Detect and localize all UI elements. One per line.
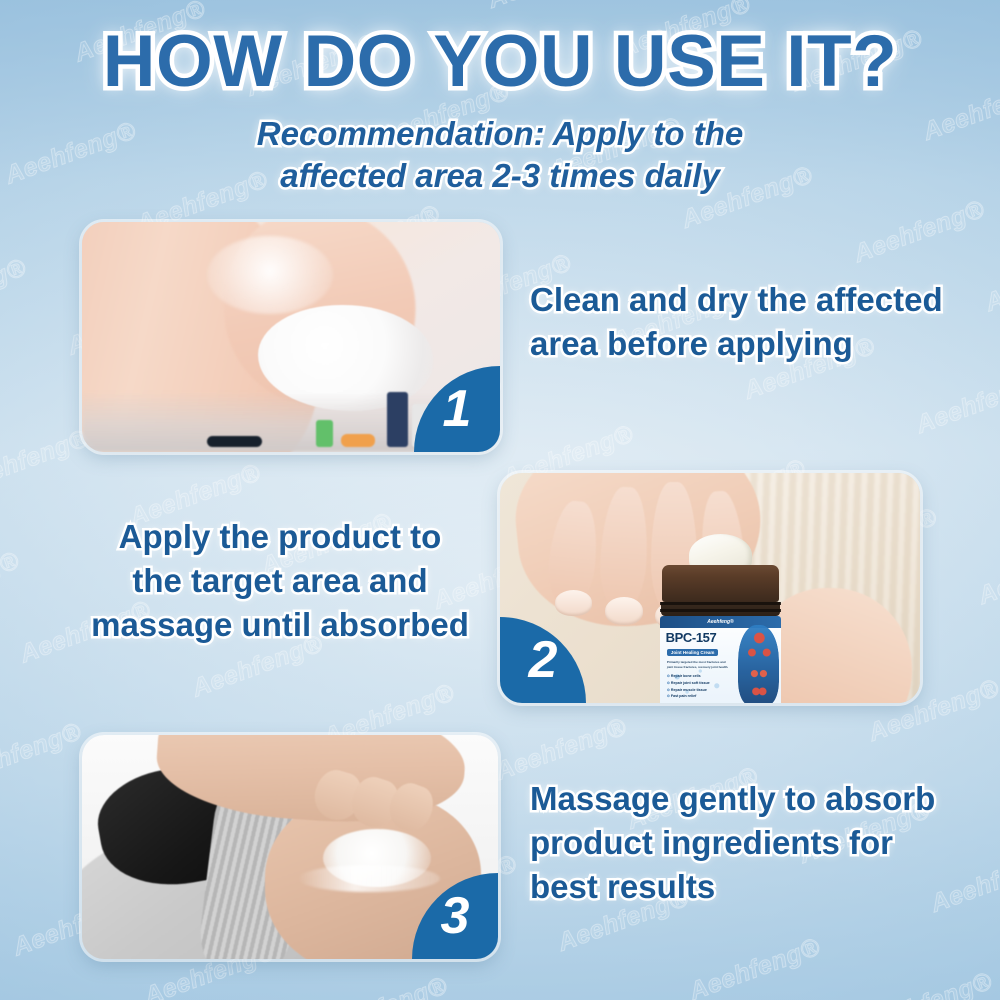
dark-object [207,436,261,448]
step-3-caption: Massage gently to absorb product ingredi… [530,777,980,909]
bottle-green [316,420,333,448]
recommendation-subtitle: Recommendation: Apply to the affected ar… [0,113,1000,197]
step-1-caption-line-1: Clean and dry the affected [530,278,1000,322]
step-2-caption-line-3: massage until absorbed [80,603,480,647]
benefit-item: Repair joint soft tissue [667,680,738,687]
step-3: 3 Massage gently to absorb product ingre… [82,735,498,959]
header-block: HOW DO YOU USE IT? Recommendation: Apply… [0,0,1000,197]
step-1-photo: 1 [82,222,500,452]
step-2-caption: Apply the product to the target area and… [80,515,480,647]
cream-smear [298,865,439,892]
human-body-pain-points-graphic [738,625,779,703]
subtitle-line-2: affected area 2-3 times daily [0,155,1000,197]
label-product-name: BPC-157 [666,630,717,645]
label-benefit-list: Repair bone cells Repair joint soft tiss… [667,673,738,700]
fingernail [605,597,643,625]
subtitle-line-1: Recommendation: Apply to the [0,113,1000,155]
infographic-poster: Aeehfeng®Aeehfeng®Aeehfeng®Aeehfeng®Aeeh… [0,0,1000,1000]
orange-object [341,434,374,448]
watermark-text: Aeehfeng® [0,717,85,791]
watermark-text: Aeehfeng® [0,546,23,620]
jar-ring [660,602,782,605]
benefit-item: Repair muscle tissue [667,687,738,694]
label-tagline: Joint Healing Cream [667,649,719,656]
watermark-text: Aeehfeng® [0,253,30,327]
watermark-text: Aeehfeng® [850,195,988,269]
watermark-text: Aeehfeng® [858,967,996,1000]
jar-label: Aeehfeng® BPC-157 Joint Healing Cream Pr… [660,616,782,703]
step-1: 1 Clean and dry the affected area before… [82,222,500,452]
foam-highlight [207,236,332,314]
step-1-caption-line-2: area before applying [530,322,1000,366]
step-2-caption-line-1: Apply the product to [80,515,480,559]
watermark-text: Aeehfeng® [686,933,824,1000]
step-3-caption-line-1: Massage gently to absorb [530,777,980,821]
step-2-caption-line-2: the target area and [80,559,480,603]
step-3-caption-line-2: product ingredients for [530,821,980,865]
page-title: HOW DO YOU USE IT? [0,20,1000,103]
benefit-item: Repair bone cells [667,673,738,680]
step-2: Aeehfeng® BPC-157 Joint Healing Cream Pr… [500,473,920,703]
benefit-item: Fast pain relief [667,693,738,700]
step-1-caption: Clean and dry the affected area before a… [530,278,1000,366]
product-jar: Aeehfeng® BPC-157 Joint Healing Cream Pr… [660,565,782,703]
step-3-caption-line-3: best results [530,865,980,909]
jar-ring [660,609,782,612]
watermark-text: Aeehfeng® [912,366,1000,440]
fingernail [555,590,593,615]
step-2-photo: Aeehfeng® BPC-157 Joint Healing Cream Pr… [500,473,920,703]
jar-lid [662,565,779,602]
watermark-text: Aeehfeng® [975,537,1000,611]
step-3-photo: 3 [82,735,498,959]
watermark-text: Aeehfeng® [0,424,92,498]
watermark-text: Aeehfeng® [492,713,630,787]
bottle-blue [387,392,408,447]
label-description: Primarily targeted the most fractures an… [667,660,730,669]
watermark-text: Aeehfeng® [313,971,451,1000]
